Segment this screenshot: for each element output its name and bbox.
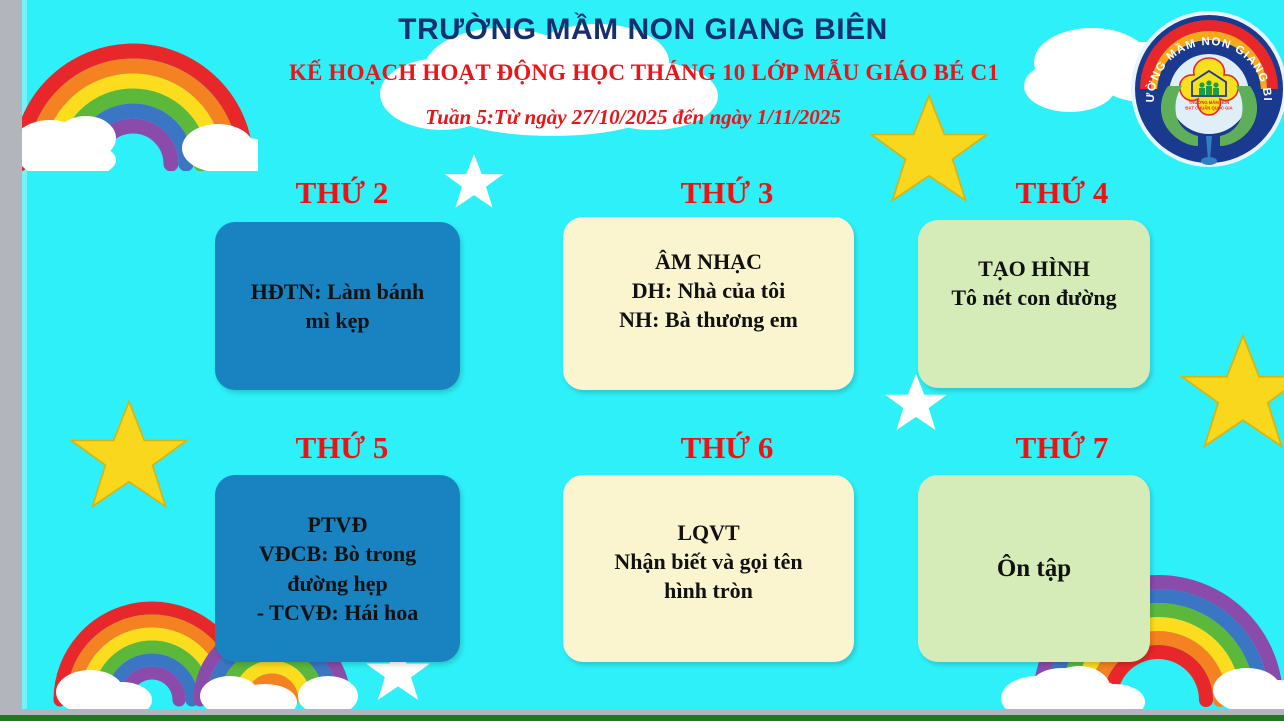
day-card-text-thu5: PTVĐ VĐCB: Bò trong đường hẹp - TCVĐ: Há… <box>247 504 429 632</box>
day-card-text-thu3: ÂM NHẠC DH: Nhà của tôi NH: Bà thương em <box>609 241 808 340</box>
day-card-thu7[interactable]: Ôn tập <box>918 475 1150 662</box>
day-card-text-thu2: HĐTN: Làm bánh mì kẹp <box>241 271 435 341</box>
card-line: NH: Bà thương em <box>619 305 798 334</box>
bottom-green-bar <box>0 715 1284 721</box>
card-line: HĐTN: Làm bánh <box>251 277 425 306</box>
svg-text:ĐẠT CHUẨN QUỐC GIA: ĐẠT CHUẨN QUỐC GIA <box>1185 106 1232 111</box>
day-heading-thu7: THỨ 7 <box>937 430 1187 466</box>
day-card-text-thu7: Ôn tập <box>987 546 1081 591</box>
day-heading-thu5: THỨ 5 <box>202 430 482 466</box>
card-line: DH: Nhà của tôi <box>619 276 798 305</box>
card-line: PTVĐ <box>257 510 419 539</box>
card-line: Tô nét con đường <box>951 283 1116 312</box>
day-heading-thu4: THỨ 4 <box>937 175 1187 211</box>
card-line: ÂM NHẠC <box>619 247 798 276</box>
card-line: mì kẹp <box>251 306 425 335</box>
week-range-label: Tuần 5:Từ ngày 27/10/2025 đến ngày 1/11/… <box>22 105 1284 130</box>
slide-frame: TRƯỜNG MẦM NON GIANG BIÊN KẾ HOẠCH HOẠT … <box>0 0 1284 721</box>
day-card-thu6[interactable]: LQVT Nhận biết và gọi tên hình tròn <box>563 475 854 662</box>
day-card-thu3[interactable]: ÂM NHẠC DH: Nhà của tôi NH: Bà thương em <box>563 217 854 390</box>
day-heading-thu6: THỨ 6 <box>587 430 867 466</box>
day-card-thu4[interactable]: TẠO HÌNH Tô nét con đường <box>918 220 1150 388</box>
school-logo: TRƯỜNG MẦM NON GIANG BIÊN TRƯỜNG MẦM NON… <box>1128 8 1284 170</box>
star-yellow-left <box>68 398 190 510</box>
day-heading-thu2: THỨ 2 <box>202 175 482 211</box>
day-card-text-thu4: TẠO HÌNH Tô nét con đường <box>941 248 1126 318</box>
card-line: Nhận biết và gọi tên <box>614 547 802 576</box>
day-card-thu5[interactable]: PTVĐ VĐCB: Bò trong đường hẹp - TCVĐ: Há… <box>215 475 460 662</box>
card-line: Ôn tập <box>997 552 1071 585</box>
card-line: VĐCB: Bò trong <box>257 539 419 568</box>
day-card-text-thu6: LQVT Nhận biết và gọi tên hình tròn <box>604 512 812 611</box>
day-card-thu2[interactable]: HĐTN: Làm bánh mì kẹp <box>215 222 460 390</box>
slide-canvas: TRƯỜNG MẦM NON GIANG BIÊN KẾ HOẠCH HOẠT … <box>22 0 1284 709</box>
star-yellow-right <box>1180 332 1284 450</box>
card-line: đường hẹp <box>257 569 419 598</box>
cloud-bottom-center <box>997 662 1147 709</box>
page-title: TRƯỜNG MẦM NON GIANG BIÊN <box>22 13 1284 47</box>
svg-text:TRƯỜNG MẦM NON: TRƯỜNG MẦM NON <box>1189 100 1230 105</box>
day-heading-thu3: THỨ 3 <box>587 175 867 211</box>
card-line: TẠO HÌNH <box>951 254 1116 283</box>
card-line: LQVT <box>614 518 802 547</box>
plan-subtitle: KẾ HOẠCH HOẠT ĐỘNG HỌC THÁNG 10 LỚP MẪU … <box>22 60 1284 86</box>
card-line: - TCVĐ: Hái hoa <box>257 598 419 627</box>
card-line: hình tròn <box>614 576 802 605</box>
